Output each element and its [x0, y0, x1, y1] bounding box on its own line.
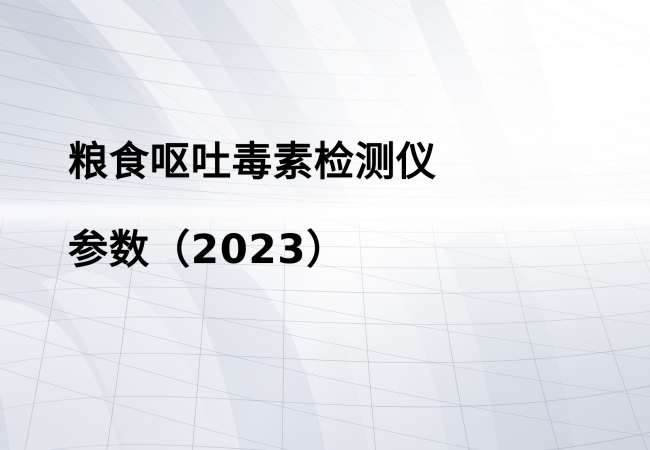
title-line-primary: 粮食呕吐毒素检测仪	[68, 118, 588, 206]
page-title: 粮食呕吐毒素检测仪 参数（2023）	[68, 118, 588, 294]
title-line-secondary: 参数（2023）	[68, 206, 588, 294]
title-banner: 粮食呕吐毒素检测仪 参数（2023）	[0, 0, 650, 450]
